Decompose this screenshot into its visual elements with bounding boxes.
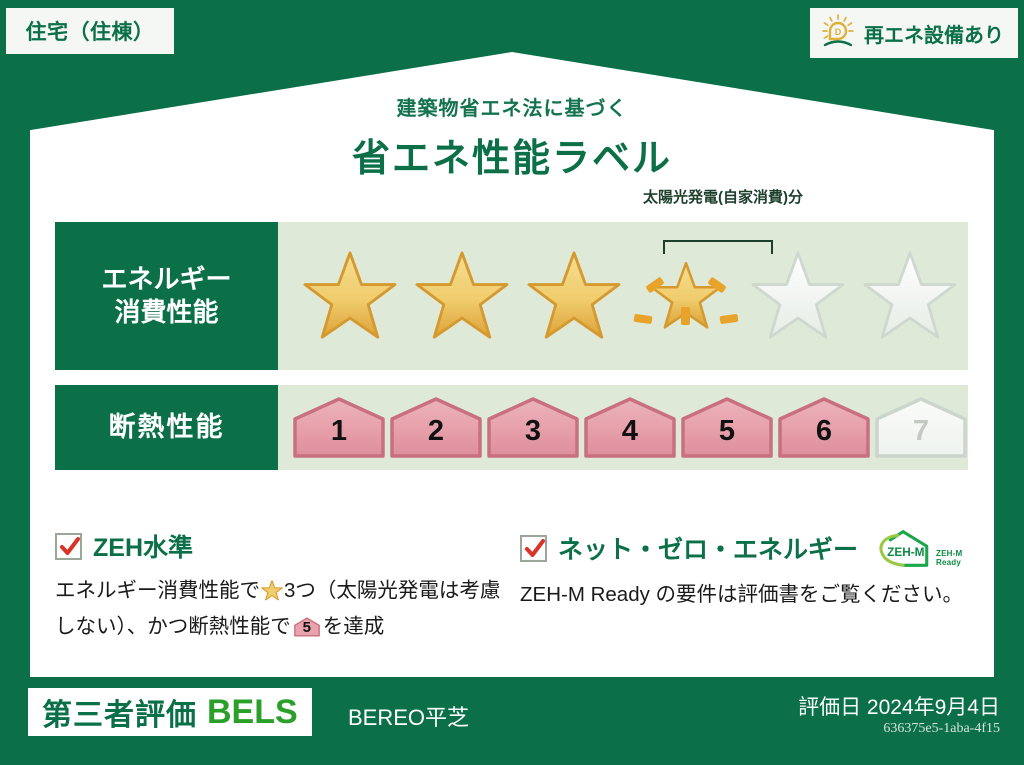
insulation-grade-2: 2 [389, 397, 483, 459]
star-2-filled [408, 250, 516, 342]
star-1-filled [296, 250, 404, 342]
star-3-filled [520, 250, 628, 342]
check-icon [524, 538, 546, 560]
house-type-label: 住宅（住棟） [26, 16, 155, 46]
inline-star-icon [261, 579, 283, 611]
insulation-grade-7: 7 [874, 397, 968, 459]
zeh-desc-part1: エネルギー消費性能で [55, 579, 260, 602]
insulation-grade-list: 1 2 3 4 [278, 385, 968, 470]
zeh-standard-block: ZEH水準 エネルギー消費性能で3つ（太陽光発電は考慮しない）、かつ断熱性能で5… [55, 528, 505, 643]
insulation-grade-3: 3 [486, 397, 580, 459]
star-4-filled-solar [632, 261, 740, 331]
insulation-grades-area: 1 2 3 4 [278, 385, 968, 470]
energy-stars-area: 太陽光発電(自家消費)分 [278, 222, 968, 370]
inline-house-grade-icon: 5 [294, 616, 320, 638]
insulation-performance-row: 断熱性能 1 2 [55, 385, 968, 470]
star-6-empty [856, 250, 964, 342]
house-type-tag: 住宅（住棟） [6, 8, 174, 54]
zeh-standard-header: ZEH水準 [55, 528, 505, 564]
solar-annotation-text: 太陽光発電(自家消費)分 [623, 186, 823, 207]
bels-en-label: BELS [207, 693, 298, 732]
insulation-grade-6: 6 [777, 397, 871, 459]
zeh-desc-part3: を達成 [323, 615, 385, 638]
insulation-grade-2-number: 2 [389, 414, 483, 447]
insulation-grade-3-number: 3 [486, 414, 580, 447]
zeh-m-ready-label: ZEH-M Ready [936, 550, 962, 568]
energy-label-line2: 消費性能 [114, 296, 218, 329]
page-title: 省エネ性能ラベル [0, 127, 1024, 182]
insulation-grade-1: 1 [292, 397, 386, 459]
evaluation-id: 636375e5-1aba-4f15 [883, 721, 1000, 737]
zeh-m-logo: ZEH-M ZEH-M Ready [875, 528, 962, 568]
insulation-label-text: 断熱性能 [109, 410, 225, 445]
title-subtitle: 建築物省エネ法に基づく [0, 92, 1024, 121]
svg-text:ZEH-M: ZEH-M [887, 545, 925, 559]
solar-ray-right [720, 314, 739, 324]
insulation-grade-5-number: 5 [680, 414, 774, 447]
energy-performance-label: エネルギー 消費性能 [55, 222, 278, 370]
check-icon [59, 536, 81, 558]
renewable-badge: D 再エネ設備あり [810, 8, 1018, 58]
net-zero-energy-description: ZEH-M Ready の要件は評価書をご覧ください。 [520, 579, 970, 611]
zeh-m-ready-line2: Ready [936, 558, 961, 567]
net-zero-energy-block: ネット・ゼロ・エネルギー ZEH-M ZEH-M Ready ZEH-M Rea… [520, 528, 970, 611]
energy-label-line1: エネルギー [101, 263, 231, 296]
solar-ray-bottom [681, 307, 690, 325]
zeh-standard-description: エネルギー消費性能で3つ（太陽光発電は考慮しない）、かつ断熱性能で5を達成 [55, 575, 505, 643]
zeh-standard-title: ZEH水準 [93, 528, 193, 564]
solar-ray-left [634, 314, 653, 324]
zeh-standard-checkbox[interactable] [55, 533, 82, 560]
star-5-empty [744, 250, 852, 342]
insulation-grade-1-number: 1 [292, 414, 386, 447]
inline-house-grade-number: 5 [294, 616, 320, 638]
net-zero-energy-title: ネット・ゼロ・エネルギー [558, 530, 858, 566]
svg-text:D: D [835, 27, 842, 37]
insulation-grade-6-number: 6 [777, 414, 871, 447]
bels-jp-label: 第三者評価 [42, 690, 197, 734]
insulation-grade-4: 4 [583, 397, 677, 459]
energy-performance-row: エネルギー 消費性能 太陽光発電(自家消費)分 [55, 222, 968, 370]
evaluation-date: 評価日 2024年9月4日 [798, 691, 1000, 721]
insulation-grade-5: 5 [680, 397, 774, 459]
title-block: 建築物省エネ法に基づく 省エネ性能ラベル [0, 92, 1024, 182]
net-zero-energy-header: ネット・ゼロ・エネルギー ZEH-M ZEH-M Ready [520, 528, 970, 568]
net-zero-energy-checkbox[interactable] [520, 535, 547, 562]
renewable-badge-label: 再エネ設備あり [864, 19, 1004, 48]
insulation-grade-7-number: 7 [874, 414, 968, 447]
bels-badge: 第三者評価 BELS [28, 688, 312, 736]
label-root: 住宅（住棟） D 再エネ設備あり [0, 0, 1024, 765]
insulation-grade-4-number: 4 [583, 414, 677, 447]
zeh-m-ready-line1: ZEH-M [936, 549, 962, 558]
builder-name: BEREO平芝 [348, 700, 469, 732]
star-rating [278, 222, 968, 370]
solar-renewable-icon: D [820, 14, 856, 53]
zeh-m-house-icon: ZEH-M [875, 528, 933, 568]
insulation-performance-label: 断熱性能 [55, 385, 278, 470]
